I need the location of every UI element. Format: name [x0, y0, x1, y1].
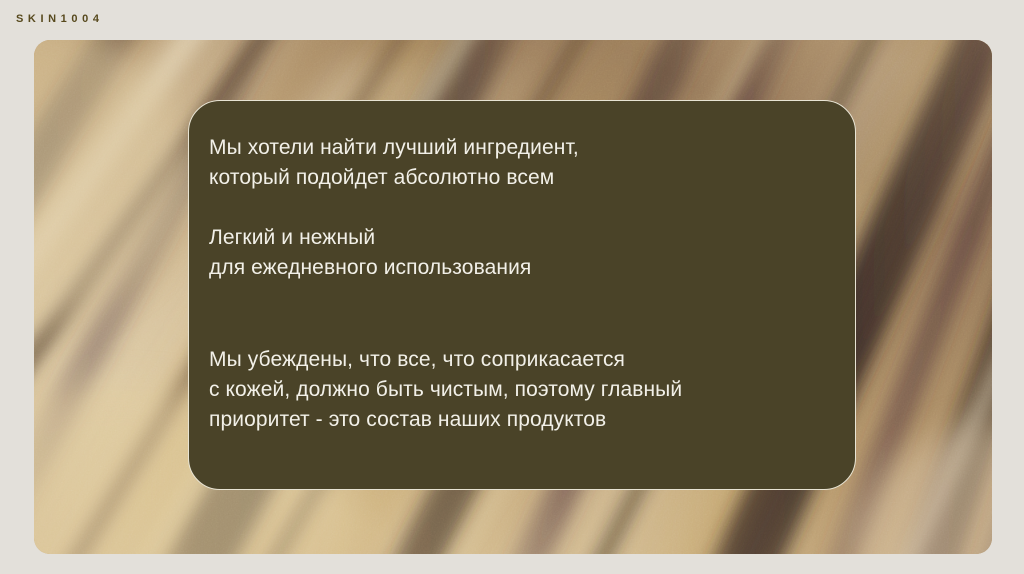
quote-paragraph-2: Легкий и нежный для ежедневного использо…	[209, 223, 835, 283]
quote-paragraph-1: Мы хотели найти лучший ингредиент, котор…	[209, 133, 835, 193]
quote-text-block: Мы хотели найти лучший ингредиент, котор…	[209, 133, 835, 435]
quote-card: Мы хотели найти лучший ингредиент, котор…	[188, 100, 856, 490]
slide: SKIN1004	[0, 0, 1024, 574]
brand-logo: SKIN1004	[16, 10, 104, 28]
quote-paragraph-3: Мы убеждены, что все, что соприкасается …	[209, 345, 835, 435]
